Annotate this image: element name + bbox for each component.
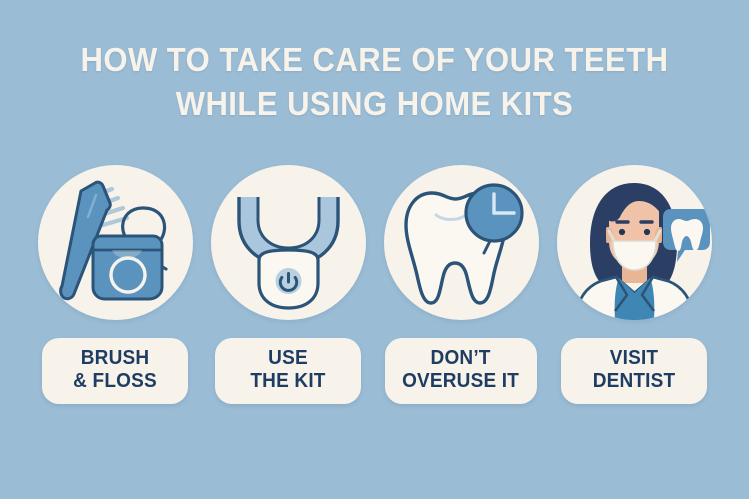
icon-circle-1 xyxy=(38,165,193,320)
step-label-line-4b: DENTIST xyxy=(578,370,690,393)
icon-circle-2 xyxy=(211,165,366,320)
infographic-canvas: HOW TO TAKE CARE OF YOUR TEETH WHILE USI… xyxy=(0,0,749,499)
title-line-2: WHILE USING HOME KITS xyxy=(22,82,726,126)
step-label-line-3b: OVERUSE IT xyxy=(403,370,520,393)
step-item-visit-dentist[interactable]: VISIT DENTIST xyxy=(557,165,712,404)
step-label-line-1b: & FLOSS xyxy=(59,370,171,393)
step-label-line-2a: USE xyxy=(232,347,344,370)
mouth-tray-channel-icon xyxy=(258,197,319,248)
tooth-with-clock-icon xyxy=(384,165,539,320)
step-label-line-1a: BRUSH xyxy=(59,347,171,370)
whitening-kit-icon xyxy=(211,165,366,320)
icon-circle-4 xyxy=(557,165,712,320)
step-label-pill-2[interactable]: USE THE KIT xyxy=(215,338,361,404)
step-label-pill-4[interactable]: VISIT DENTIST xyxy=(561,338,707,404)
step-item-use-the-kit[interactable]: USE THE KIT xyxy=(211,165,366,404)
page-title: HOW TO TAKE CARE OF YOUR TEETH WHILE USI… xyxy=(0,38,749,126)
clock-badge-icon xyxy=(466,185,522,241)
floss-container-icon xyxy=(93,236,162,299)
step-label-pill-3[interactable]: DON’T OVERUSE IT xyxy=(385,338,536,404)
toothbrush-and-floss-icon xyxy=(38,165,193,320)
dentist-icon xyxy=(557,165,712,320)
step-label-pill-1[interactable]: BRUSH & FLOSS xyxy=(42,338,188,404)
steps-row: BRUSH & FLOSS xyxy=(0,165,749,404)
step-label-line-2b: THE KIT xyxy=(232,370,344,393)
step-item-brush-floss[interactable]: BRUSH & FLOSS xyxy=(38,165,193,404)
title-line-1: HOW TO TAKE CARE OF YOUR TEETH xyxy=(22,38,726,82)
step-label-line-3a: DON’T xyxy=(403,347,520,370)
power-button-icon xyxy=(274,267,302,295)
step-label-line-4a: VISIT xyxy=(578,347,690,370)
icon-circle-3 xyxy=(384,165,539,320)
step-item-dont-overuse[interactable]: DON’T OVERUSE IT xyxy=(384,165,539,404)
dentist-eye-right-icon xyxy=(643,229,649,235)
dentist-eye-left-icon xyxy=(618,229,624,235)
